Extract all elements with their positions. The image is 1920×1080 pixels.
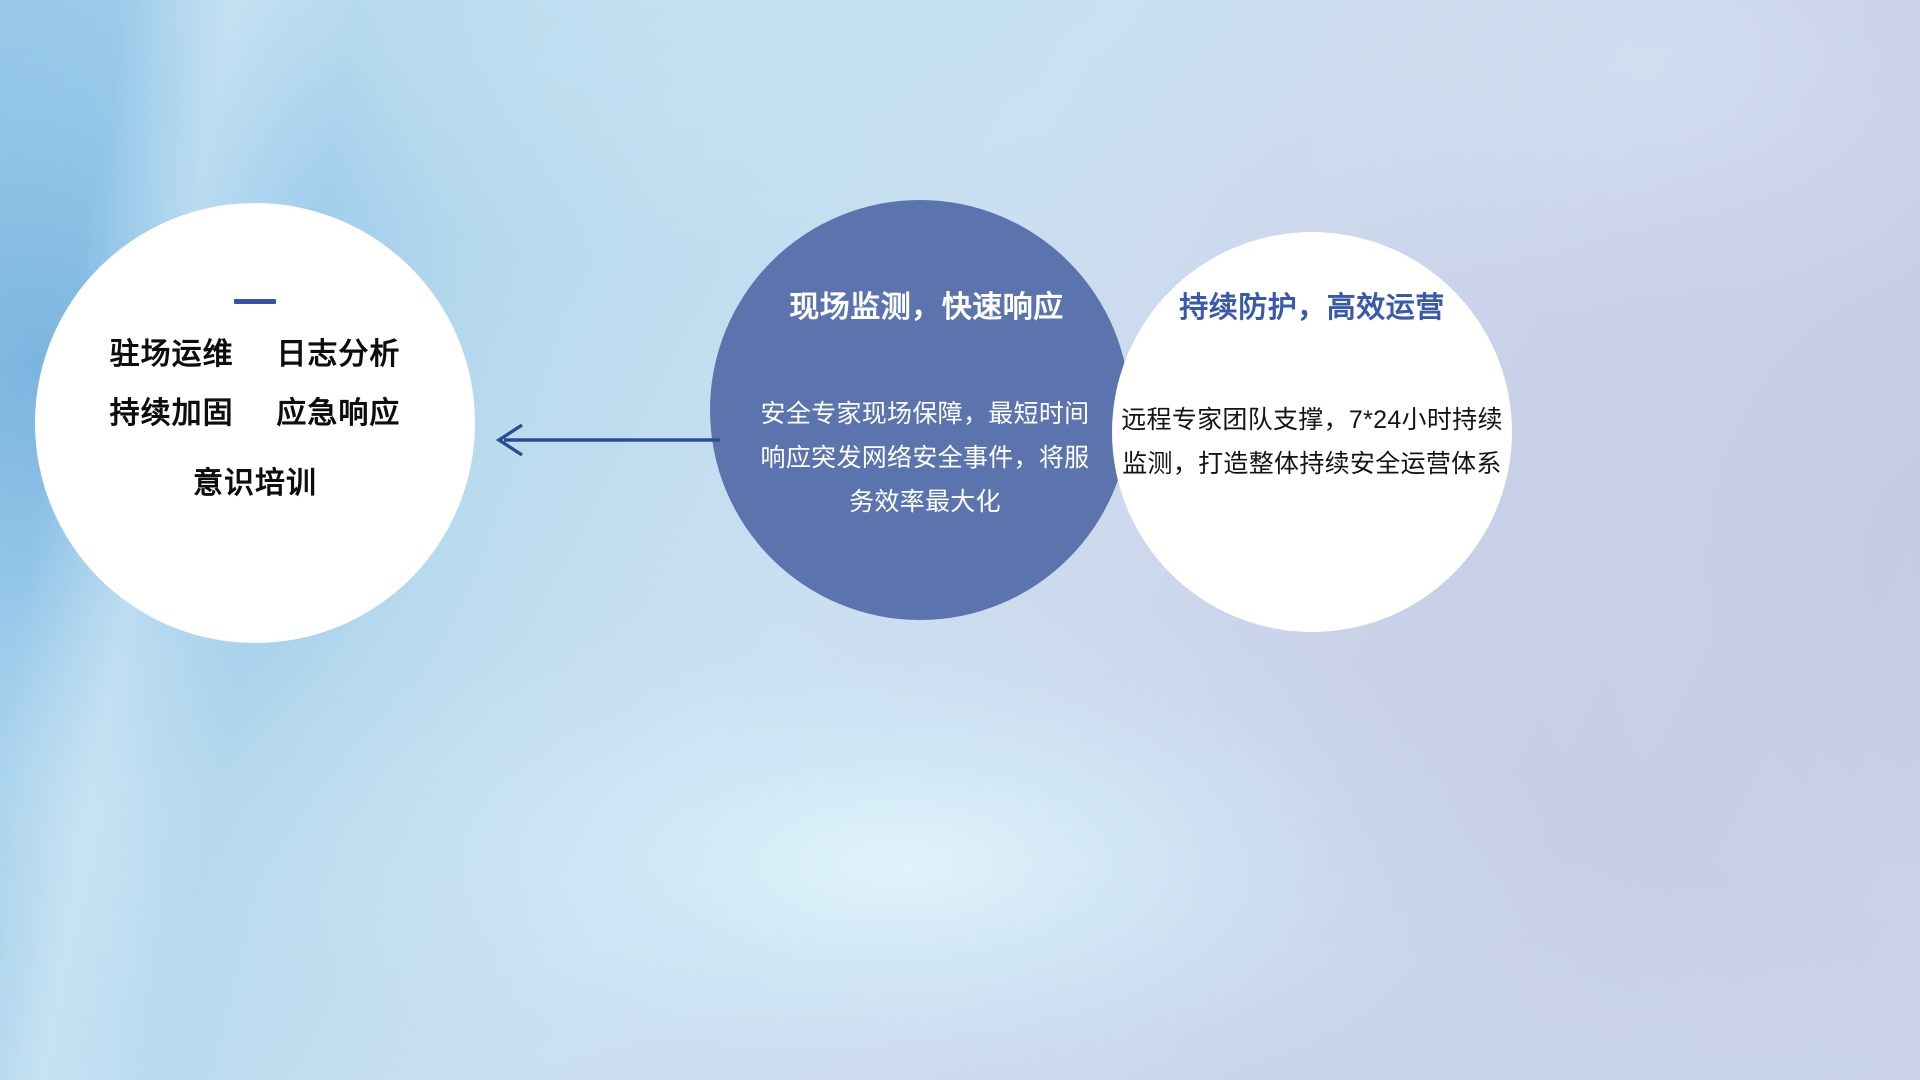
capability-row-2: 持续加固 应急响应 — [35, 399, 475, 429]
center-circle-body: 安全专家现场保障，最短时间响应突发网络安全事件，将服务效率最大化 — [760, 392, 1090, 524]
slide-canvas: 驻场运维 日志分析 持续加固 应急响应 意识培训 现场监测，快速响应 安全专家现… — [0, 0, 1920, 1080]
right-continuous-protection-circle[interactable]: 持续防护，高效运营 远程专家团队支撑，7*24小时持续监测，打造整体持续安全运营… — [1112, 232, 1512, 632]
capability-label-emergency-response: 应急响应 — [276, 397, 400, 430]
capability-label-awareness-training: 意识培训 — [193, 467, 317, 500]
capability-row-1: 驻场运维 日志分析 — [35, 340, 475, 370]
center-circle-title: 现场监测，快速响应 — [763, 282, 1090, 326]
right-circle-body: 远程专家团队支撑，7*24小时持续监测，打造整体持续安全运营体系 — [1112, 398, 1512, 486]
center-circle-content: 现场监测，快速响应 安全专家现场保障，最短时间响应突发网络安全事件，将服务效率最… — [750, 282, 1090, 524]
left-pointing-arrow — [480, 412, 720, 468]
left-circle-content: 驻场运维 日志分析 持续加固 应急响应 意识培训 — [35, 299, 475, 499]
capability-label-onsite-ops: 驻场运维 — [110, 338, 234, 371]
arrow-svg — [480, 412, 720, 468]
left-capability-circle[interactable]: 驻场运维 日志分析 持续加固 应急响应 意识培训 — [35, 203, 475, 643]
accent-dash-icon — [234, 299, 276, 304]
capability-row-3: 意识培训 — [35, 469, 475, 499]
center-onsite-monitoring-circle[interactable]: 现场监测，快速响应 安全专家现场保障，最短时间响应突发网络安全事件，将服务效率最… — [710, 200, 1130, 620]
capability-label-continuous-hardening: 持续加固 — [110, 397, 234, 430]
capability-label-log-analysis: 日志分析 — [276, 338, 400, 371]
right-circle-content: 持续防护，高效运营 远程专家团队支撑，7*24小时持续监测，打造整体持续安全运营… — [1112, 284, 1512, 486]
right-circle-title: 持续防护，高效运营 — [1112, 284, 1512, 326]
